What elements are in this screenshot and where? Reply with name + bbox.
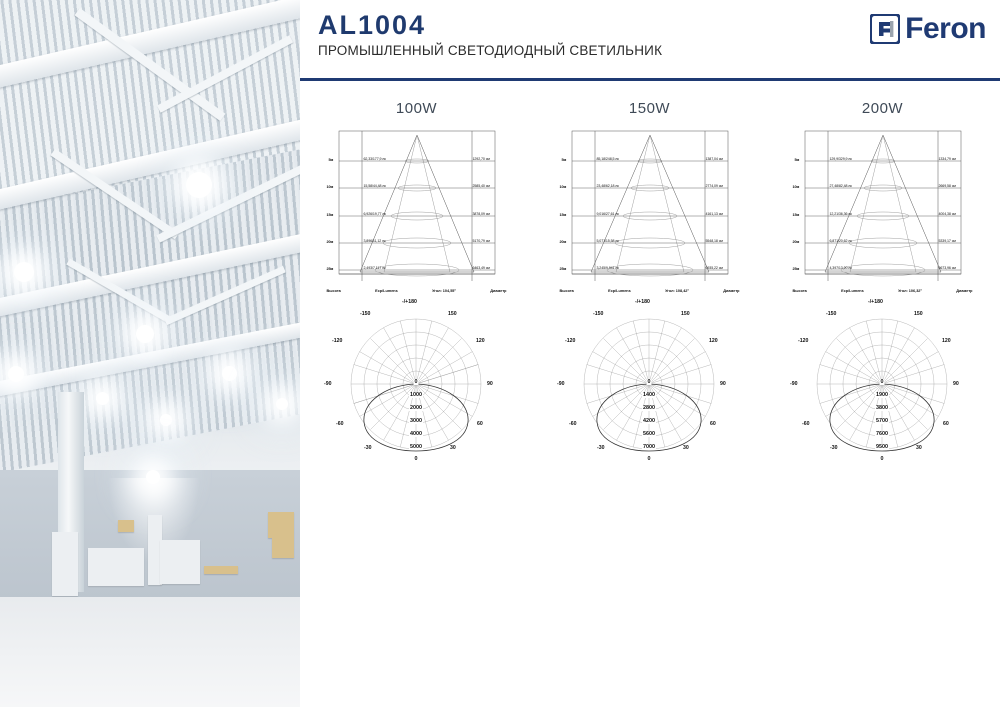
row-height: 20м [327, 240, 334, 244]
polar-angle-n30: -30 [830, 445, 838, 451]
row-height: 10м [793, 185, 800, 189]
polar-diagram: -/+180 150 120 90 60 30 -150 -120 -90 -6… [557, 306, 742, 466]
polar-angle-n90: -90 [324, 381, 332, 387]
polar-ring-label: 3000 [409, 418, 423, 424]
beam-diagram-footer: Высота Еср/Lumens Угол: 104,55° Диаметр [327, 289, 507, 293]
polar-angle-n90: -90 [790, 381, 798, 387]
warehouse-floor [0, 597, 300, 707]
polar-angle-90: 90 [720, 381, 726, 387]
col-header-height: Высота [560, 289, 574, 293]
ceiling-luminaire [14, 262, 34, 282]
row-height: 5м [562, 158, 567, 162]
polar-angle-30: 30 [916, 445, 922, 451]
polar-ring-label: 9500 [875, 444, 889, 450]
polar-angle-180: -/+180 [402, 299, 417, 305]
polar-angle-n120: -120 [798, 338, 808, 344]
polar-angle-n30: -30 [364, 445, 372, 451]
row-height: 20м [793, 240, 800, 244]
polar-diagram: -/+180 150 120 90 60 30 -150 -120 -90 -6… [324, 306, 509, 466]
col-header-diameter: Диаметр [490, 289, 506, 293]
ceiling-luminaire [136, 325, 154, 343]
polar-ring-label: 2000 [409, 405, 423, 411]
panel-title: 200W [766, 100, 999, 117]
polar-angle-30: 30 [450, 445, 456, 451]
polar-angle-n30: -30 [597, 445, 605, 451]
beam-diagram: 5м 10м 15м 20м 25м 62,33/177,9 лк 15,58/… [327, 129, 507, 284]
row-diameter: 5170,79 см [473, 239, 490, 243]
polar-ring-label: 1400 [642, 392, 656, 398]
polar-ring-label: 5600 [642, 431, 656, 437]
row-lux: 2,493/7,117 лк [364, 266, 386, 270]
equipment [88, 548, 144, 586]
polar-angle-n120: -120 [332, 338, 342, 344]
beam-diagram: 5м 10м 15м 20м 25м 85,18/248,5 лк 23,48/… [560, 129, 740, 284]
polar-angle-60: 60 [710, 421, 716, 427]
row-lux: 6,871/20,62 лк [830, 239, 852, 243]
polar-ring-label: 7000 [642, 444, 656, 450]
row-lux: 6,926/19,77 лк [364, 212, 386, 216]
polar-bottom-label: 0 [647, 456, 652, 462]
polar-angle-120: 120 [476, 338, 485, 344]
cardboard-box [272, 538, 294, 558]
polar-ring-label: 3800 [875, 405, 889, 411]
row-height: 15м [560, 213, 567, 217]
polar-ring-label: 1900 [875, 392, 889, 398]
row-lux: 12,21/36,36 лк [830, 212, 852, 216]
ceiling-luminaire [186, 172, 212, 198]
row-diameter: 4161,13 см [706, 212, 723, 216]
col-header-angle: Угол: 104,55° [432, 289, 456, 293]
beam-diagram-svg [327, 129, 507, 284]
polar-diagram: -/+180 150 120 90 60 30 -150 -120 -90 -6… [790, 306, 975, 466]
photometry-panels: 100W [300, 100, 1000, 500]
col-header-diameter: Диаметр [723, 289, 739, 293]
polar-ring-label: 4200 [642, 418, 656, 424]
polar-diagram-svg [790, 306, 975, 466]
col-header-height: Высота [327, 289, 341, 293]
col-header-lux: Еср/Lumens [608, 289, 631, 293]
polar-bottom-label: 0 [414, 456, 419, 462]
polar-angle-60: 60 [943, 421, 949, 427]
polar-ring-label: 5000 [409, 444, 423, 450]
col-header-angle: Угол: 106,32° [898, 289, 922, 293]
row-lux: 3,896/11,12 лк [364, 239, 386, 243]
row-diameter: 4004,38 см [939, 212, 956, 216]
polar-angle-n60: -60 [802, 421, 810, 427]
row-height: 15м [327, 213, 334, 217]
row-lux: 85,18/248,5 лк [597, 157, 619, 161]
polar-center-label: 0 [647, 379, 652, 385]
row-diameter: 5339,17 см [939, 239, 956, 243]
datasheet-page: AL1004 ПРОМЫШЛЕННЫЙ СВЕТОДИОДНЫЙ СВЕТИЛЬ… [0, 0, 1000, 707]
panel-100w: 100W [300, 100, 533, 500]
polar-center-label: 0 [880, 379, 885, 385]
ceiling-luminaire [222, 366, 237, 381]
polar-angle-n120: -120 [565, 338, 575, 344]
equipment [52, 532, 78, 596]
panel-200w: 200W [766, 100, 999, 500]
polar-angle-120: 120 [942, 338, 951, 344]
row-height: 10м [560, 185, 567, 189]
row-lux: 129,9/329,9 лк [830, 157, 852, 161]
col-header-angle: Угол: 108,42° [665, 289, 689, 293]
polar-angle-180: -/+180 [868, 299, 883, 305]
polar-ring-label: 7600 [875, 431, 889, 437]
beam-diagram: 5м 10м 15м 20м 25м 129,9/329,9 лк 27,48/… [793, 129, 973, 284]
row-height: 20м [560, 240, 567, 244]
col-header-diameter: Диаметр [956, 289, 972, 293]
polar-angle-90: 90 [953, 381, 959, 387]
header-divider [300, 78, 1000, 81]
brand-logo: Feron [870, 14, 986, 44]
row-diameter: 6673,96 см [939, 266, 956, 270]
polar-angle-180: -/+180 [635, 299, 650, 305]
product-application-photo [0, 0, 300, 707]
row-diameter: 1334,79 см [939, 157, 956, 161]
polar-angle-30: 30 [683, 445, 689, 451]
cardboard-box [118, 520, 134, 532]
cardboard-box [268, 512, 294, 538]
row-lux: 9,016/27,61 лк [597, 212, 619, 216]
polar-ring-label: 1000 [409, 392, 423, 398]
beam-diagram-footer: Высота Еср/Lumens Угол: 108,42° Диаметр [560, 289, 740, 293]
polar-center-label: 0 [414, 379, 419, 385]
polar-angle-120: 120 [709, 338, 718, 344]
polar-ring-label: 5700 [875, 418, 889, 424]
row-diameter: 5548,18 см [706, 239, 723, 243]
row-diameter: 2669,58 см [939, 184, 956, 188]
panel-150w: 150W [533, 100, 766, 500]
row-lux: 62,33/177,9 лк [364, 157, 386, 161]
feron-f-mark-icon [870, 14, 900, 44]
polar-diagram-svg [557, 306, 742, 466]
row-diameter: 6463,49 см [473, 266, 490, 270]
page-header: AL1004 ПРОМЫШЛЕННЫЙ СВЕТОДИОДНЫЙ СВЕТИЛЬ… [318, 12, 986, 78]
row-height: 10м [327, 185, 334, 189]
row-diameter: 2774,09 см [706, 184, 723, 188]
row-diameter: 1292,70 см [473, 157, 490, 161]
row-height: 5м [329, 158, 334, 162]
row-lux: 5,071/15,58 лк [597, 239, 619, 243]
polar-angle-n150: -150 [360, 311, 370, 317]
row-lux: 15,58/44,48 лк [364, 184, 386, 188]
row-height: 15м [793, 213, 800, 217]
row-lux: 27,48/82,48 лк [830, 184, 852, 188]
polar-angle-n60: -60 [569, 421, 577, 427]
beam-diagram-svg [793, 129, 973, 284]
ceiling-luminaire [276, 398, 288, 410]
col-header-lux: Еср/Lumens [841, 289, 864, 293]
polar-diagram-svg [324, 306, 509, 466]
col-header-height: Высота [793, 289, 807, 293]
row-lux: 23,48/62,18 лк [597, 184, 619, 188]
beam-diagram-svg [560, 129, 740, 284]
polar-angle-n60: -60 [336, 421, 344, 427]
polar-ring-label: 4000 [409, 431, 423, 437]
panel-title: 150W [533, 100, 766, 117]
polar-angle-150: 150 [448, 311, 457, 317]
row-height: 25м [327, 267, 334, 271]
polar-angle-150: 150 [681, 311, 690, 317]
ceiling-luminaire [160, 414, 172, 426]
equipment [160, 540, 200, 584]
row-lux: 4,397/13,20 лк [830, 266, 852, 270]
row-height: 25м [560, 267, 567, 271]
row-diameter: 3878,09 см [473, 212, 490, 216]
row-height: 25м [793, 267, 800, 271]
polar-angle-n150: -150 [826, 311, 836, 317]
col-header-lux: Еср/Lumens [375, 289, 398, 293]
product-subtitle: ПРОМЫШЛЕННЫЙ СВЕТОДИОДНЫЙ СВЕТИЛЬНИК [318, 43, 986, 58]
row-height: 5м [795, 158, 800, 162]
polar-angle-150: 150 [914, 311, 923, 317]
polar-angle-90: 90 [487, 381, 493, 387]
ceiling-luminaire [8, 366, 24, 382]
polar-bottom-label: 0 [880, 456, 885, 462]
row-diameter: 2585,40 см [473, 184, 490, 188]
brand-wordmark: Feron [905, 14, 986, 44]
row-diameter: 1387,04 см [706, 157, 723, 161]
row-lux: 3,245/9,941 лк [597, 266, 619, 270]
polar-ring-label: 2800 [642, 405, 656, 411]
beam-diagram-footer: Высота Еср/Lumens Угол: 106,32° Диаметр [793, 289, 973, 293]
row-diameter: 6935,22 см [706, 266, 723, 270]
polar-angle-n150: -150 [593, 311, 603, 317]
polar-angle-60: 60 [477, 421, 483, 427]
polar-angle-n90: -90 [557, 381, 565, 387]
panel-title: 100W [300, 100, 533, 117]
ceiling-luminaire [96, 392, 109, 405]
wooden-pallet [204, 566, 238, 574]
